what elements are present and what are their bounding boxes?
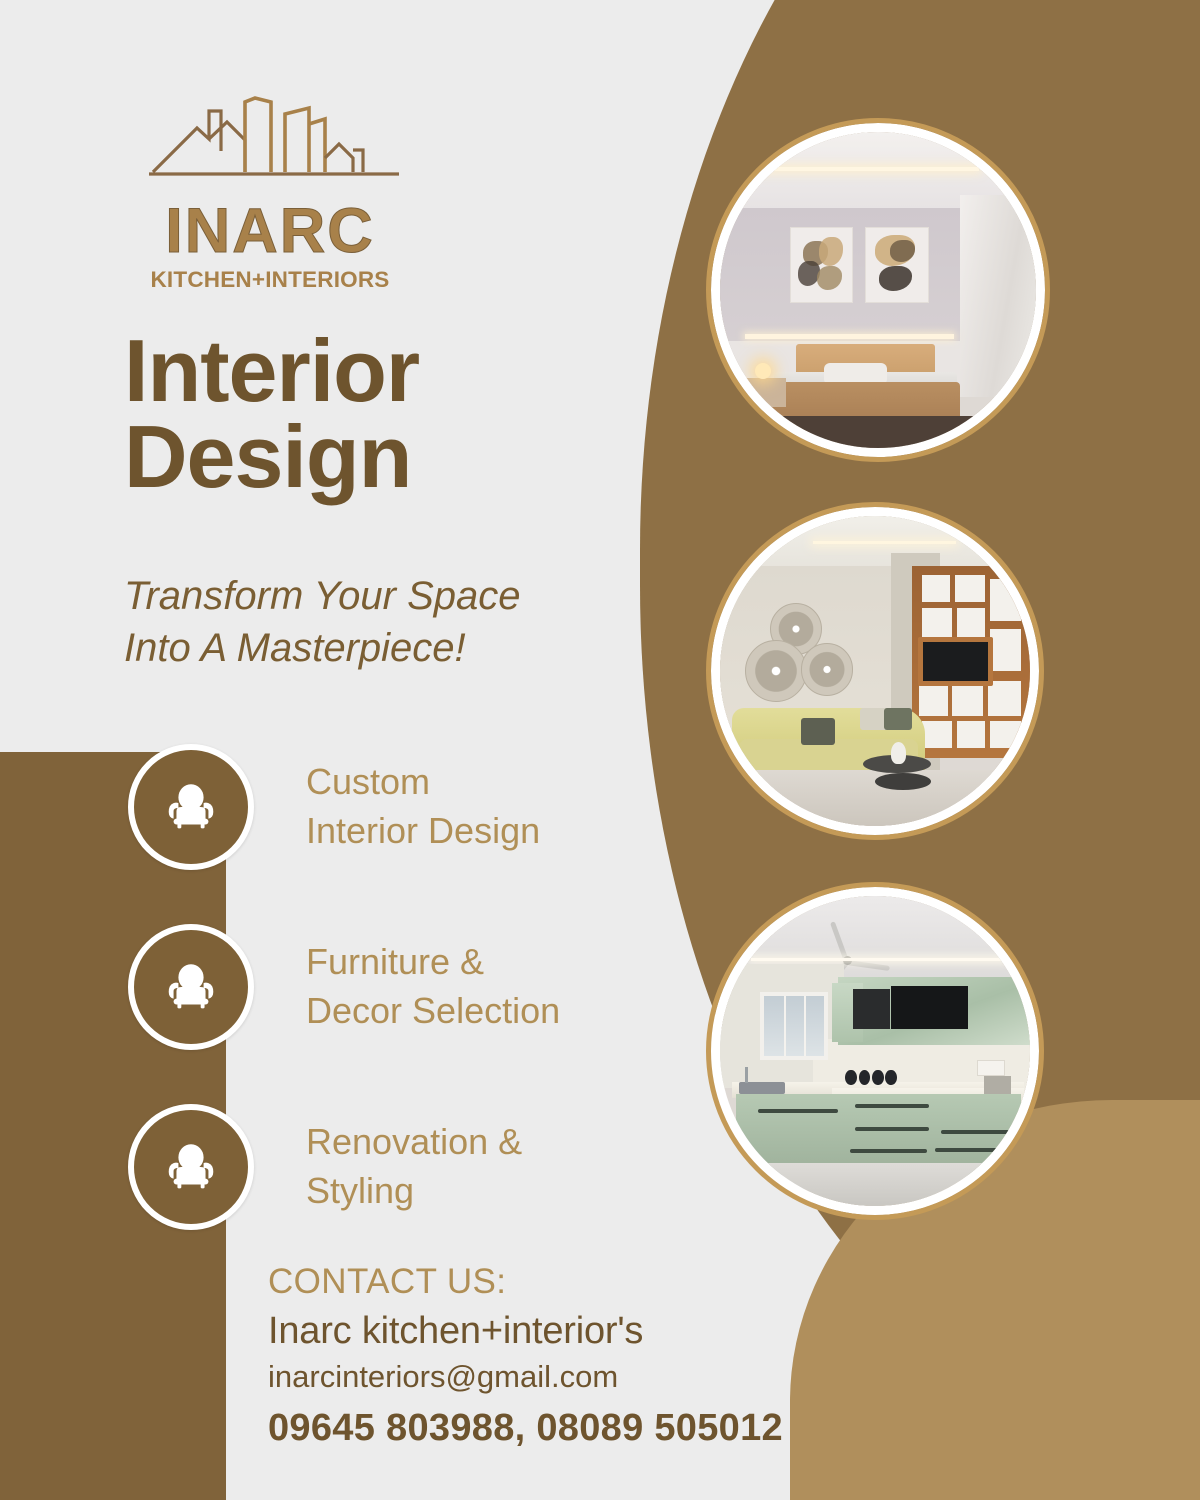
wall-art-left-icon bbox=[790, 227, 853, 303]
headline-line-2: Design bbox=[124, 414, 419, 500]
kitchen-window bbox=[760, 992, 828, 1060]
brand-subtitle: KITCHEN+INTERIORS bbox=[135, 267, 405, 293]
feature-2-line-2: Decor Selection bbox=[306, 987, 560, 1036]
armchair-icon bbox=[160, 1136, 222, 1198]
kitchen-scene bbox=[720, 896, 1030, 1206]
headline-line-1: Interior bbox=[124, 328, 419, 414]
feature-2-line-1: Furniture & bbox=[306, 938, 560, 987]
living-room-interior-photo bbox=[706, 502, 1044, 840]
bedroom-scene bbox=[720, 132, 1036, 448]
tagline-line-1: Transform Your Space bbox=[124, 570, 520, 622]
television-icon bbox=[918, 637, 992, 687]
tagline-line-2: Into A Masterpiece! bbox=[124, 622, 520, 674]
bedroom-interior-photo bbox=[706, 118, 1050, 462]
tagline: Transform Your Space Into A Masterpiece! bbox=[124, 570, 520, 674]
city-skyline-house-outline-icon bbox=[149, 88, 399, 198]
feature-label-1: Custom Interior Design bbox=[306, 758, 540, 855]
feature-1-line-1: Custom bbox=[306, 758, 540, 807]
brand-logo: INARC KITCHEN+INTERIORS bbox=[135, 88, 405, 293]
flower-wall-decor-icon bbox=[801, 643, 854, 696]
page-title: Interior Design bbox=[124, 328, 419, 500]
contact-label: CONTACT US: bbox=[268, 1262, 783, 1302]
feature-item-furniture-decor-selection: Furniture & Decor Selection bbox=[128, 924, 688, 1104]
living-room-scene bbox=[720, 516, 1030, 826]
living-room-photo-inner bbox=[720, 516, 1030, 826]
feature-badge-3 bbox=[128, 1104, 254, 1230]
brand-name: INARC bbox=[135, 200, 405, 263]
feature-item-renovation-styling: Renovation & Styling bbox=[128, 1104, 688, 1284]
feature-label-2: Furniture & Decor Selection bbox=[306, 938, 560, 1035]
feature-badge-2 bbox=[128, 924, 254, 1050]
kitchen-photo-inner bbox=[720, 896, 1030, 1206]
flower-wall-decor-icon bbox=[745, 640, 807, 702]
feature-list: Custom Interior Design Furniture & Decor… bbox=[128, 744, 688, 1284]
contact-business-name: Inarc kitchen+interior's bbox=[268, 1310, 783, 1353]
feature-1-line-2: Interior Design bbox=[306, 807, 540, 856]
contact-phone-numbers[interactable]: 09645 803988, 08089 505012 bbox=[268, 1407, 783, 1450]
feature-3-line-2: Styling bbox=[306, 1167, 522, 1216]
contact-block: CONTACT US: Inarc kitchen+interior's ina… bbox=[268, 1262, 783, 1450]
feature-label-3: Renovation & Styling bbox=[306, 1118, 522, 1215]
kitchen-interior-photo bbox=[706, 882, 1044, 1220]
feature-item-custom-interior-design: Custom Interior Design bbox=[128, 744, 688, 924]
armchair-icon bbox=[160, 776, 222, 838]
armchair-icon bbox=[160, 956, 222, 1018]
contact-email[interactable]: inarcinteriors@gmail.com bbox=[268, 1359, 783, 1395]
wall-art-right-icon bbox=[865, 227, 928, 303]
feature-3-line-1: Renovation & bbox=[306, 1118, 522, 1167]
bedroom-photo-inner bbox=[720, 132, 1036, 448]
gas-hob-icon bbox=[844, 1070, 897, 1086]
feature-badge-1 bbox=[128, 744, 254, 870]
